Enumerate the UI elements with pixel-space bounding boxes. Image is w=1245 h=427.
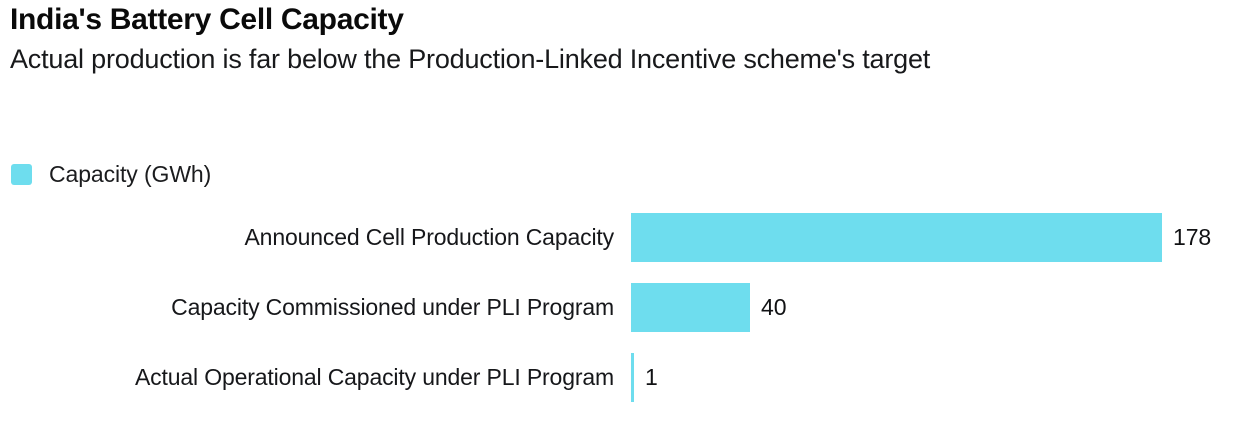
legend-item-label: Capacity (GWh): [49, 163, 211, 186]
bar-value-label: 40: [750, 283, 786, 332]
bar-row: Actual Operational Capacity under PLI Pr…: [0, 353, 1245, 423]
bar-value-label: 1: [634, 353, 658, 402]
bar-row: Announced Cell Production Capacity 178: [0, 213, 1245, 283]
bar-row: Capacity Commissioned under PLI Program …: [0, 283, 1245, 353]
bar-category-label: Actual Operational Capacity under PLI Pr…: [0, 353, 614, 402]
chart-legend: Capacity (GWh): [11, 163, 211, 186]
chart-title: India's Battery Cell Capacity: [10, 2, 1235, 38]
chart-subtitle: Actual production is far below the Produ…: [10, 42, 1225, 77]
chart-plot-area: Announced Cell Production Capacity 178 C…: [0, 213, 1245, 427]
legend-item-capacity[interactable]: Capacity (GWh): [11, 163, 211, 186]
bar-category-label: Capacity Commissioned under PLI Program: [0, 283, 614, 332]
bar-track: 1: [631, 353, 1245, 402]
bar-track: 178: [631, 213, 1245, 262]
bar-category-label: Announced Cell Production Capacity: [0, 213, 614, 262]
bar-track: 40: [631, 283, 1245, 332]
bar-segment[interactable]: [631, 213, 1162, 262]
bar-value-label: 178: [1162, 213, 1211, 262]
chart-header: India's Battery Cell Capacity Actual pro…: [10, 2, 1235, 77]
bar-segment[interactable]: [631, 283, 750, 332]
legend-color-swatch-icon: [11, 164, 32, 185]
chart-container: India's Battery Cell Capacity Actual pro…: [0, 0, 1245, 427]
